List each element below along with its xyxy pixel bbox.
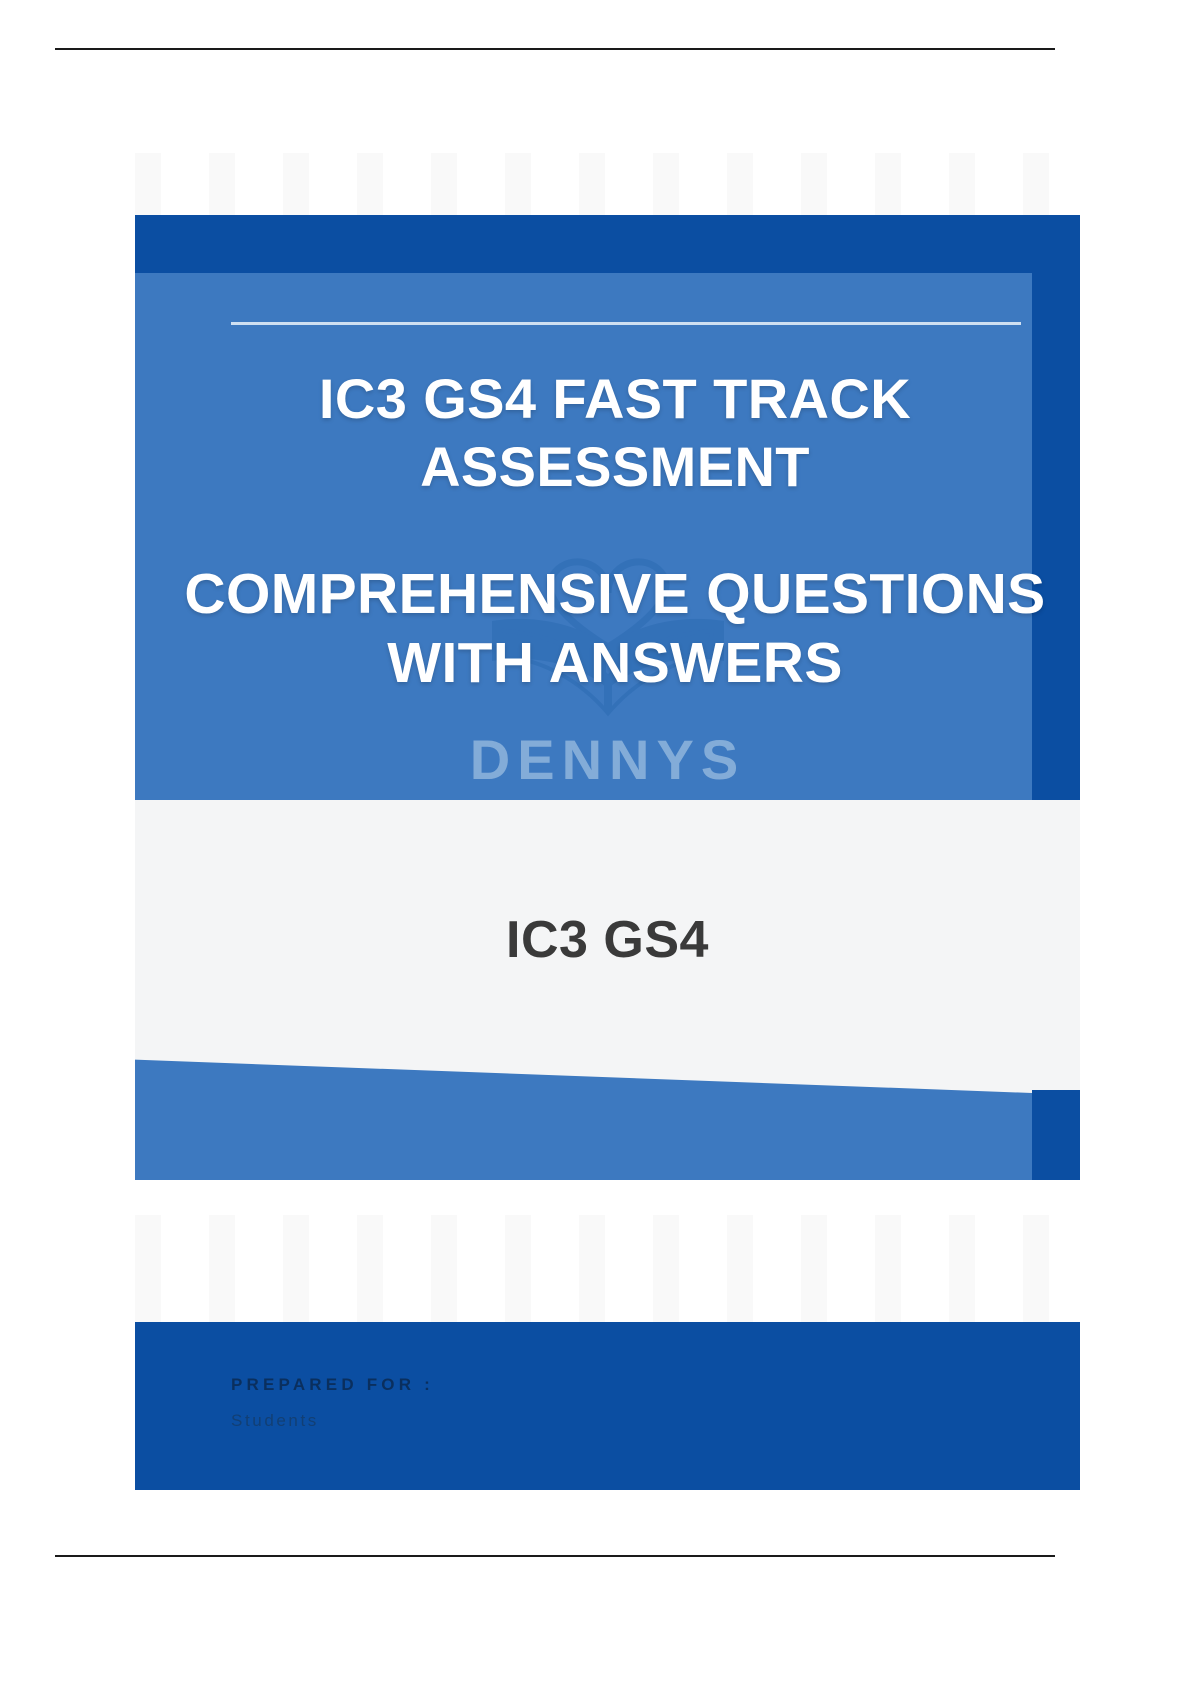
document-page: DENNYS Crafting Notes, Creating Success … [0, 0, 1200, 1700]
ghost-texture-bottom [135, 1215, 1080, 1335]
cover-title: IC3 GS4 FAST TRACK ASSESSMENT COMPREHENS… [135, 365, 1080, 699]
page-top-rule [55, 48, 1055, 50]
cover-subtitle: IC3 GS4 [135, 910, 1080, 970]
lower-band-right-notch [1032, 1090, 1080, 1180]
cover-title-line-2: ASSESSMENT [135, 433, 1080, 501]
cover-title-line-1: IC3 GS4 FAST TRACK [135, 365, 1080, 433]
title-hairline-divider [231, 322, 1021, 325]
cover-footer [135, 1322, 1080, 1490]
prepared-for-label: PREPARED FOR : [231, 1375, 434, 1395]
title-spacer [135, 502, 1080, 560]
cover-title-line-4: WITH ANSWERS [135, 629, 1080, 699]
cover-artwork: DENNYS Crafting Notes, Creating Success … [135, 135, 1080, 1490]
page-bottom-rule [55, 1555, 1055, 1557]
cover-title-line-3: COMPREHENSIVE QUESTIONS [135, 560, 1080, 630]
prepared-for-value: Students [231, 1411, 319, 1431]
